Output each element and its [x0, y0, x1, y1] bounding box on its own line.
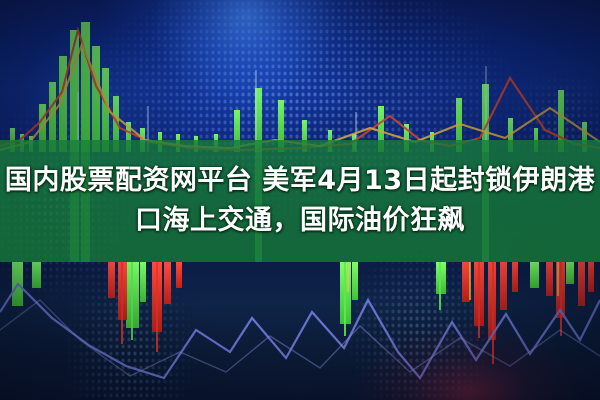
headline-line-2: 口海上交通，国际油价狂飙: [135, 201, 465, 241]
banner-image: 国内股票配资网平台 美军4月13日起封锁伊朗港 口海上交通，国际油价狂飙: [0, 0, 600, 400]
headline-band: 国内股票配资网平台 美军4月13日起封锁伊朗港 口海上交通，国际油价狂飙: [0, 140, 600, 262]
headline-line-1: 国内股票配资网平台 美军4月13日起封锁伊朗港: [5, 161, 595, 201]
